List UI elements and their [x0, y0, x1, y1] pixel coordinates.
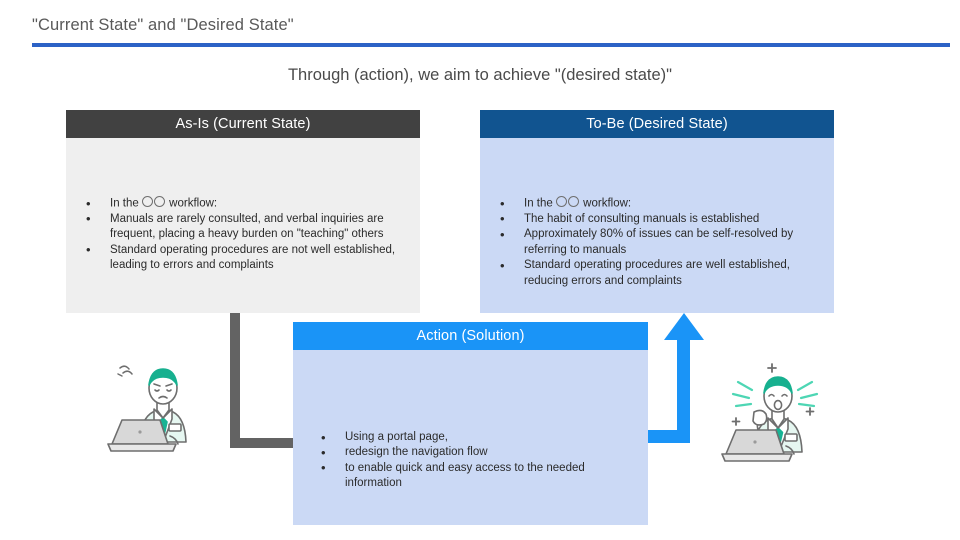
list-item: Approximately 80% of issues can be self-… [490, 227, 824, 258]
list-item: to enable quick and easy access to the n… [311, 461, 638, 492]
worried-worker-icon [106, 352, 216, 462]
happy-worker-illustration [714, 348, 836, 470]
circle-placeholder-icon [568, 196, 579, 207]
list-item: Standard operating procedures are well e… [490, 258, 824, 289]
list-item: Using a portal page, [311, 430, 638, 445]
slide-canvas: "Current State" and "Desired State" Thro… [0, 0, 960, 540]
card-to-be-header: To-Be (Desired State) [480, 110, 834, 138]
card-to-be: To-Be (Desired State) In the workflow: T… [480, 110, 834, 313]
happy-worker-icon [714, 348, 836, 470]
bullet-suffix: workflow: [166, 198, 217, 210]
list-item: Manuals are rarely consulted, and verbal… [76, 212, 408, 243]
card-to-be-bullet-list: In the workflow: The habit of consulting… [490, 196, 824, 289]
bullet-prefix: In the [524, 198, 556, 210]
list-item: In the workflow: [490, 196, 824, 212]
card-as-is-bullet-list: In the workflow: Manuals are rarely cons… [76, 196, 408, 274]
list-item: Standard operating procedures are not we… [76, 243, 408, 274]
page-title: "Current State" and "Desired State" [32, 16, 294, 35]
worried-worker-illustration [106, 352, 216, 462]
card-action-header: Action (Solution) [293, 322, 648, 350]
card-to-be-body: In the workflow: The habit of consulting… [480, 138, 834, 313]
slide-subtitle: Through (action), we aim to achieve "(de… [0, 66, 960, 85]
card-action-body: Using a portal page, redesign the naviga… [293, 350, 648, 525]
blue-arrow-head-icon [664, 313, 704, 340]
card-as-is-body: In the workflow: Manuals are rarely cons… [66, 138, 420, 313]
bullet-suffix: workflow: [580, 198, 631, 210]
circle-placeholder-icon [142, 196, 153, 207]
card-action: Action (Solution) Using a portal page, r… [293, 322, 648, 525]
list-item: In the workflow: [76, 196, 408, 212]
bullet-prefix: In the [110, 198, 142, 210]
card-as-is: As-Is (Current State) In the workflow: M… [66, 110, 420, 313]
title-divider-rule [32, 43, 950, 47]
card-action-bullet-list: Using a portal page, redesign the naviga… [311, 430, 638, 492]
gray-connector-horizontal-segment [230, 438, 302, 448]
circle-placeholder-icon [556, 196, 567, 207]
blue-arrow-vertical-segment [677, 339, 690, 443]
list-item: The habit of consulting manuals is estab… [490, 212, 824, 227]
circle-placeholder-icon [154, 196, 165, 207]
card-as-is-header: As-Is (Current State) [66, 110, 420, 138]
list-item: redesign the navigation flow [311, 445, 638, 460]
gray-connector-vertical-segment [230, 313, 240, 448]
